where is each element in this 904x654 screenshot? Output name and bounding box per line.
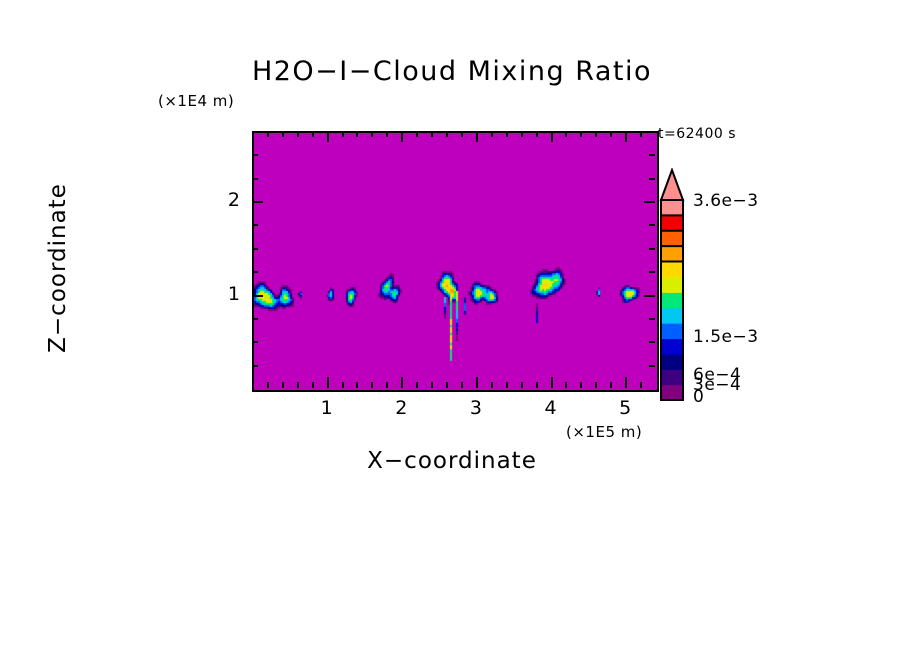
x-axis-tick [312,382,314,388]
x-axis-tick [416,131,418,137]
x-axis-tick [625,377,627,388]
x-axis-tick [386,131,388,137]
x-axis-tick [610,131,612,137]
y-axis-tick [252,248,258,250]
x-axis-tick [610,382,612,388]
x-axis-tick [506,131,508,137]
y-axis-tick [649,224,655,226]
y-axis-tick [649,178,655,180]
x-axis-tick [521,382,523,388]
x-axis-tick [401,377,403,388]
x-axis-tick [342,131,344,137]
y-axis-tick [252,365,258,367]
contour-field-canvas [254,133,657,390]
x-axis-tick [491,382,493,388]
y-axis-tick [649,154,655,156]
x-axis-tick [342,382,344,388]
x-axis-tick [371,131,373,137]
x-axis-tick [356,382,358,388]
colorbar-extend-arrow [661,170,683,200]
x-axis-tick [297,131,299,137]
colorbar-tick-label: 1.5e−3 [693,327,759,347]
colorbar-band [661,277,683,293]
y-axis-title: Z−coordinate [45,118,71,418]
x-axis-tick [327,131,329,142]
x-axis-tick [595,131,597,137]
x-axis-tick [551,131,553,142]
x-axis-tick [416,382,418,388]
y-axis-tick [252,318,258,320]
colorbar-band [661,338,683,354]
colorbar-tick-label: 0 [693,387,704,407]
colorbar: 3.6e−31.5e−36e−43e−40 [659,168,779,408]
x-axis-tick [476,377,478,388]
colorbar-band [661,231,683,247]
x-axis-tick [327,377,329,388]
x-axis-tick [565,382,567,388]
contour-plot-area [252,131,659,392]
y-axis-tick [649,248,655,250]
y-axis-tick [644,201,655,203]
y-tick-label: 2 [200,189,240,211]
x-tick-label: 4 [531,397,571,419]
x-axis-tick [565,131,567,137]
y-axis-tick [644,295,655,297]
x-axis-title: X−coordinate [0,448,904,474]
x-axis-tick [297,382,299,388]
x-axis-tick [536,131,538,137]
x-unit-label: (×1E5 m) [566,423,642,441]
x-axis-tick [386,382,388,388]
page-title: H2O−I−Cloud Mixing Ratio [0,56,904,87]
colorbar-tick-label: 3.6e−3 [693,191,759,211]
x-axis-tick [461,131,463,137]
colorbar-band [661,246,683,262]
colorbar-band [661,308,683,324]
y-axis-tick [252,224,258,226]
x-axis-tick [267,131,269,137]
x-axis-tick [431,131,433,137]
x-tick-label: 3 [456,397,496,419]
y-axis-tick [252,341,258,343]
x-axis-tick [476,131,478,142]
y-axis-tick [252,271,258,273]
x-tick-label: 2 [381,397,421,419]
x-axis-tick [446,382,448,388]
colorbar-band [661,200,683,216]
x-tick-label: 1 [307,397,347,419]
y-axis-tick [252,154,258,156]
x-axis-tick [625,131,627,142]
x-axis-tick [356,131,358,137]
x-axis-tick [282,382,284,388]
x-axis-tick [431,382,433,388]
x-axis-tick [521,131,523,137]
x-axis-tick [536,382,538,388]
y-tick-label: 1 [200,283,240,305]
colorbar-band [661,323,683,339]
colorbar-band [661,369,683,385]
y-axis-tick [252,295,263,297]
colorbar-band [661,215,683,231]
y-axis-tick [649,318,655,320]
x-tick-label: 5 [605,397,645,419]
x-axis-tick [461,382,463,388]
x-axis-tick [446,131,448,137]
y-axis-tick [649,365,655,367]
x-axis-tick [267,382,269,388]
y-axis-tick [649,271,655,273]
x-axis-tick [401,131,403,142]
colorbar-band [661,262,683,278]
x-axis-tick [282,131,284,137]
x-axis-tick [640,382,642,388]
x-axis-tick [580,382,582,388]
z-unit-label: (×1E4 m) [158,92,234,110]
colorbar-band [661,385,683,401]
x-axis-tick [506,382,508,388]
timestamp-annotation: t=62400 s [658,126,736,142]
x-axis-tick [312,131,314,137]
x-axis-tick [580,131,582,137]
colorbar-band [661,292,683,308]
y-axis-tick [252,201,263,203]
colorbar-band [661,354,683,370]
y-axis-tick [252,178,258,180]
x-axis-tick [595,382,597,388]
x-axis-tick [491,131,493,137]
y-axis-tick [649,341,655,343]
x-axis-tick [640,131,642,137]
x-axis-tick [551,377,553,388]
x-axis-tick [371,382,373,388]
